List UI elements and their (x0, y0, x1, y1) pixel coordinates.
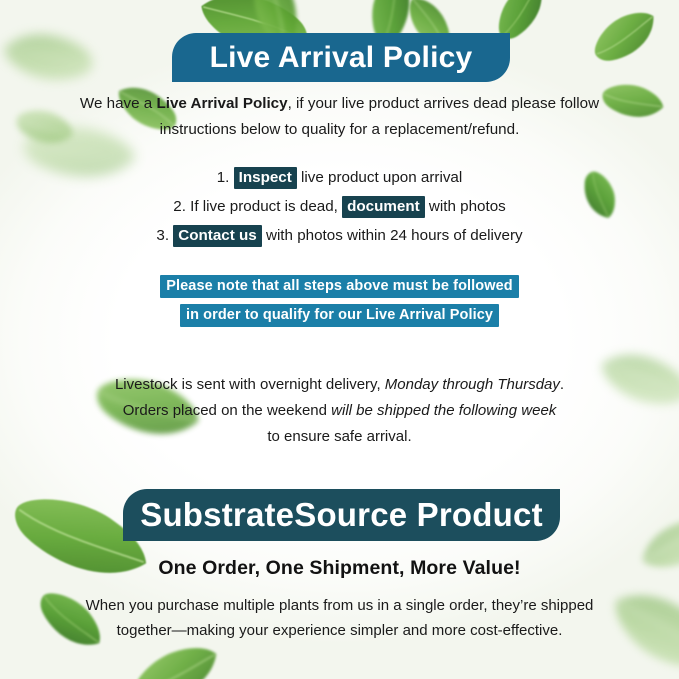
step-item-2: 2. If live product is dead, document wit… (0, 192, 679, 221)
intro-line-1: We have a Live Arrival Policy, if your l… (0, 91, 679, 117)
step-number: 2. (173, 198, 190, 215)
step-item-3: 3. Contact us with photos within 24 hour… (0, 221, 679, 250)
step-highlight: document (342, 196, 425, 218)
livestock-shipping-paragraph: Livestock is sent with overnight deliver… (0, 372, 679, 450)
step-text-post: with photos (425, 198, 506, 215)
live-arrival-policy-banner-title: Live Arrival Policy (210, 41, 473, 75)
text-run: Monday through Thursday (385, 376, 560, 393)
text-run: Livestock is sent with overnight deliver… (115, 376, 385, 393)
step-highlight: Contact us (173, 225, 261, 247)
note-highlight: in order to qualify for our Live Arrival… (180, 304, 499, 327)
text-run: instructions below to quality for a repl… (160, 121, 520, 138)
step-text-post: live product upon arrival (297, 169, 462, 186)
value-paragraph: When you purchase multiple plants from u… (0, 593, 679, 643)
note-line-1: Please note that all steps above must be… (0, 274, 679, 299)
text-run: Live Arrival Policy (156, 95, 287, 112)
content-layer: Live Arrival Policy We have a Live Arriv… (0, 0, 679, 679)
shipping-line-3: to ensure safe arrival. (0, 424, 679, 450)
substratesource-product-banner-title: SubstrateSource Product (140, 496, 543, 534)
text-run: , if your live product arrives dead plea… (288, 95, 600, 112)
shipping-line-1: Livestock is sent with overnight deliver… (0, 372, 679, 398)
value-headline: One Order, One Shipment, More Value! (0, 557, 679, 580)
shipping-line-2: Orders placed on the weekend will be shi… (0, 398, 679, 424)
note-highlight: Please note that all steps above must be… (160, 275, 519, 298)
step-number: 1. (217, 169, 234, 186)
text-run: . (560, 376, 564, 393)
note-line-2: in order to qualify for our Live Arrival… (0, 303, 679, 328)
text-run: will be shipped the following week (331, 402, 556, 419)
step-text-post: with photos within 24 hours of delivery (262, 227, 523, 244)
substratesource-product-banner: SubstrateSource Product (123, 489, 560, 541)
live-arrival-policy-banner: Live Arrival Policy (172, 33, 510, 82)
step-item-1: 1. Inspect live product upon arrival (0, 163, 679, 192)
value-line-1: When you purchase multiple plants from u… (0, 593, 679, 618)
policy-infographic: Live Arrival Policy We have a Live Arriv… (0, 0, 679, 679)
text-run: to ensure safe arrival. (267, 428, 411, 445)
step-text-pre: If live product is dead, (190, 198, 342, 215)
text-run: We have a (80, 95, 157, 112)
live-arrival-steps-list: 1. Inspect live product upon arrival2. I… (0, 163, 679, 250)
live-arrival-note-block: Please note that all steps above must be… (0, 274, 679, 332)
live-arrival-intro-paragraph: We have a Live Arrival Policy, if your l… (0, 91, 679, 143)
text-run: Orders placed on the weekend (123, 402, 331, 419)
value-line-2: together—making your experience simpler … (0, 618, 679, 643)
step-number: 3. (156, 227, 173, 244)
step-highlight: Inspect (234, 167, 297, 189)
intro-line-2: instructions below to quality for a repl… (0, 117, 679, 143)
